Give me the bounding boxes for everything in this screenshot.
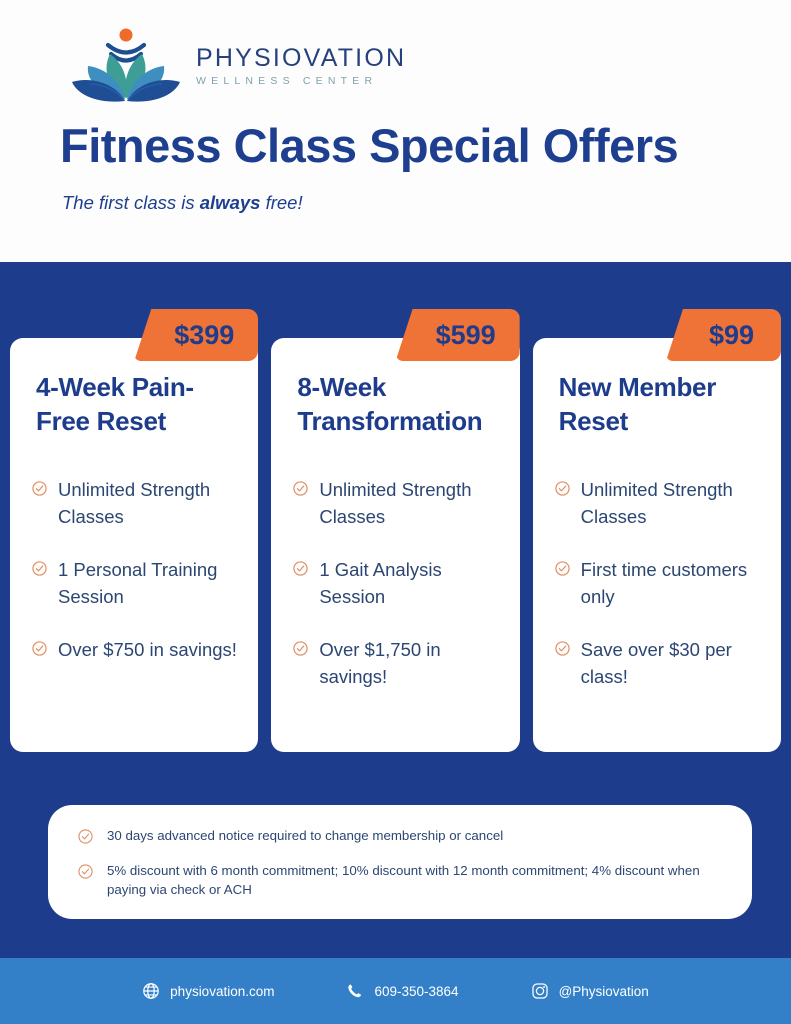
lotus-leaf-icon [66, 26, 186, 106]
check-circle-icon [293, 641, 308, 656]
subtitle-emphasis: always [200, 192, 261, 213]
check-circle-icon [293, 481, 308, 496]
check-circle-icon [32, 641, 47, 656]
list-item: Unlimited Strength Classes [555, 476, 761, 530]
offers-section: $399 4-Week Pain-Free Reset Unlimited St… [0, 262, 791, 958]
plan-feature-text: Unlimited Strength Classes [58, 476, 238, 530]
terms-text: 5% discount with 6 month commitment; 10%… [107, 862, 722, 900]
plan-title: New Member Reset [559, 370, 761, 442]
check-circle-icon [78, 829, 93, 844]
plan-feature-list: Unlimited Strength Classes First time cu… [553, 476, 761, 690]
list-item: Save over $30 per class! [555, 636, 761, 690]
pricing-card[interactable]: $99 New Member Reset Unlimited Strength … [533, 338, 781, 752]
footer-phone[interactable]: 609-350-3864 [346, 982, 458, 1000]
page-subtitle: The first class is always free! [62, 192, 303, 214]
plan-feature-list: Unlimited Strength Classes 1 Personal Tr… [30, 476, 238, 663]
footer-website[interactable]: physiovation.com [142, 982, 274, 1000]
check-circle-icon [555, 561, 570, 576]
globe-icon [142, 982, 160, 1000]
footer-instagram[interactable]: @Physiovation [531, 982, 649, 1000]
plan-title: 8-Week Transformation [297, 370, 499, 442]
footer-instagram-label: @Physiovation [559, 984, 649, 999]
plan-feature-text: Save over $30 per class! [581, 636, 761, 690]
footer-phone-label: 609-350-3864 [374, 984, 458, 999]
price-badge: $99 [666, 309, 781, 361]
plan-feature-text: Unlimited Strength Classes [581, 476, 761, 530]
footer-website-label: physiovation.com [170, 984, 274, 999]
list-item: Over $750 in savings! [32, 636, 238, 663]
list-item: 1 Gait Analysis Session [293, 556, 499, 610]
list-item: Over $1,750 in savings! [293, 636, 499, 690]
contact-footer: physiovation.com 609-350-3864 @Physiovat… [0, 958, 791, 1024]
brand-logo: PHYSIOVATION WELLNESS CENTER [66, 26, 376, 106]
terms-box: 30 days advanced notice required to chan… [48, 805, 752, 919]
instagram-icon [531, 982, 549, 1000]
plan-title: 4-Week Pain-Free Reset [36, 370, 238, 442]
check-circle-icon [555, 481, 570, 496]
pricing-cards: $399 4-Week Pain-Free Reset Unlimited St… [10, 338, 781, 752]
pricing-card[interactable]: $399 4-Week Pain-Free Reset Unlimited St… [10, 338, 258, 752]
plan-feature-text: Unlimited Strength Classes [319, 476, 499, 530]
terms-text: 30 days advanced notice required to chan… [107, 827, 503, 846]
list-item: First time customers only [555, 556, 761, 610]
pricing-card[interactable]: $599 8-Week Transformation Unlimited Str… [271, 338, 519, 752]
subtitle-suffix: free! [260, 192, 302, 213]
plan-feature-text: 1 Personal Training Session [58, 556, 238, 610]
list-item: Unlimited Strength Classes [32, 476, 238, 530]
price-badge: $599 [396, 309, 520, 361]
check-circle-icon [293, 561, 308, 576]
plan-feature-text: 1 Gait Analysis Session [319, 556, 499, 610]
list-item: 1 Personal Training Session [32, 556, 238, 610]
poster: PHYSIOVATION WELLNESS CENTER Fitness Cla… [0, 0, 791, 1024]
brand-tagline: WELLNESS CENTER [196, 76, 406, 87]
brand-wordmark: PHYSIOVATION WELLNESS CENTER [196, 46, 406, 87]
check-circle-icon [32, 481, 47, 496]
plan-feature-text: Over $750 in savings! [58, 636, 237, 663]
list-item: Unlimited Strength Classes [293, 476, 499, 530]
poster-header: PHYSIOVATION WELLNESS CENTER Fitness Cla… [0, 0, 791, 262]
page-title: Fitness Class Special Offers [60, 118, 678, 173]
plan-feature-text: Over $1,750 in savings! [319, 636, 499, 690]
check-circle-icon [32, 561, 47, 576]
list-item: 5% discount with 6 month commitment; 10%… [78, 862, 722, 900]
price-badge: $399 [134, 309, 258, 361]
phone-icon [346, 982, 364, 1000]
brand-name: PHYSIOVATION [196, 44, 406, 72]
subtitle-prefix: The first class is [62, 192, 200, 213]
check-circle-icon [78, 864, 93, 879]
list-item: 30 days advanced notice required to chan… [78, 827, 722, 846]
plan-feature-text: First time customers only [581, 556, 761, 610]
plan-feature-list: Unlimited Strength Classes 1 Gait Analys… [291, 476, 499, 690]
check-circle-icon [555, 641, 570, 656]
